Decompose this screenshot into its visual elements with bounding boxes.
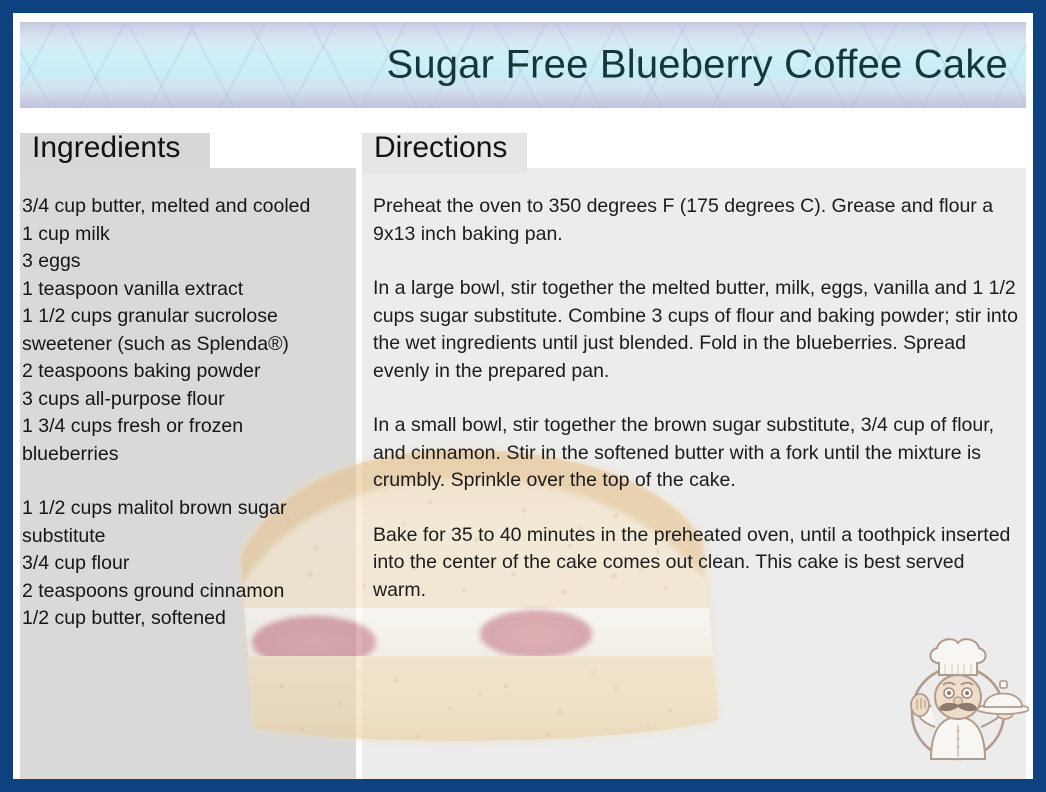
- ingredient-line: 1 3/4 cups fresh or frozen: [22, 413, 360, 441]
- direction-paragraph: Preheat the oven to 350 degrees F (175 d…: [373, 193, 1021, 248]
- ingredient-line: 1 teaspoon vanilla extract: [22, 276, 360, 304]
- ingredient-line: 3 eggs: [22, 248, 360, 276]
- page-title: Sugar Free Blueberry Coffee Cake: [386, 43, 1008, 88]
- ingredient-line: sweetener (such as Splenda®): [22, 331, 360, 359]
- ingredient-line: 3/4 cup flour: [22, 550, 360, 578]
- title-banner: Sugar Free Blueberry Coffee Cake: [20, 22, 1026, 108]
- ingredients-list: 3/4 cup butter, melted and cooled 1 cup …: [22, 193, 360, 633]
- ingredient-line: 1/2 cup butter, softened: [22, 605, 360, 633]
- ingredient-line: 1 1/2 cups granular sucrolose: [22, 303, 360, 331]
- card-inner-surface: Sugar Free Blueberry Coffee Cake Ingredi…: [13, 13, 1033, 779]
- ingredient-line: 1 cup milk: [22, 221, 360, 249]
- directions-heading: Directions: [374, 131, 507, 165]
- directions-body: Preheat the oven to 350 degrees F (175 d…: [373, 193, 1021, 604]
- ingredient-line: 3 cups all-purpose flour: [22, 386, 360, 414]
- direction-paragraph: In a large bowl, stir together the melte…: [373, 275, 1021, 385]
- ingredients-heading: Ingredients: [32, 131, 180, 165]
- direction-paragraph: In a small bowl, stir together the brown…: [373, 412, 1021, 495]
- ingredient-line: 2 teaspoons ground cinnamon: [22, 578, 360, 606]
- ingredients-heading-tab: Ingredients: [20, 133, 210, 173]
- ingredient-line: 1 1/2 cups malitol brown sugar: [22, 495, 360, 523]
- directions-heading-tab: Directions: [362, 133, 527, 173]
- ingredient-line: substitute: [22, 523, 360, 551]
- ingredients-group-spacer: [22, 468, 360, 495]
- ingredient-line: 3/4 cup butter, melted and cooled: [22, 193, 360, 221]
- ingredient-line: blueberries: [22, 441, 360, 469]
- ingredient-line: 2 teaspoons baking powder: [22, 358, 360, 386]
- recipe-card: Sugar Free Blueberry Coffee Cake Ingredi…: [0, 0, 1046, 792]
- direction-paragraph: Bake for 35 to 40 minutes in the preheat…: [373, 522, 1021, 605]
